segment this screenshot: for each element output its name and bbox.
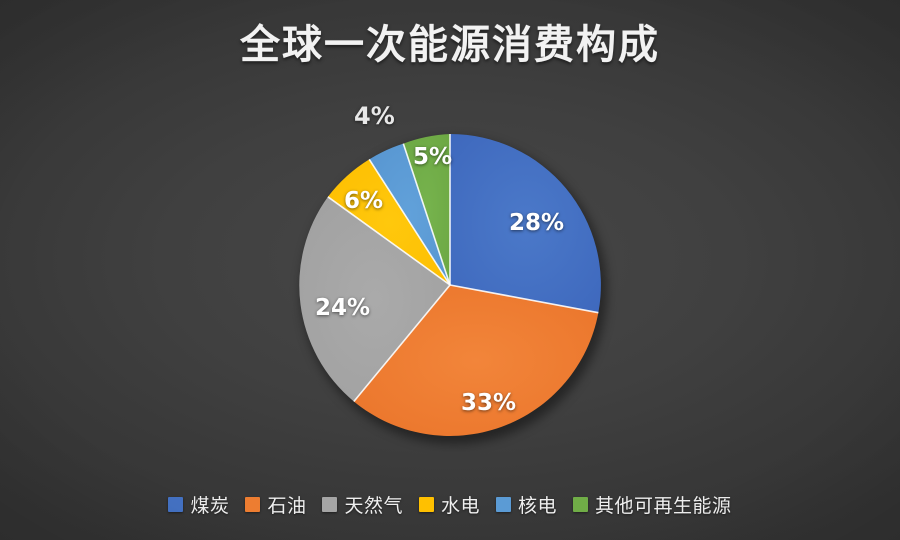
legend-item-gas[interactable]: 天然气 <box>322 491 403 518</box>
legend-swatch-icon <box>168 497 183 512</box>
legend-label: 煤炭 <box>190 491 229 518</box>
legend-item-coal[interactable]: 煤炭 <box>168 491 229 518</box>
legend-label: 天然气 <box>344 491 403 518</box>
pie-chart-slide: 全球一次能源消费构成 <box>0 0 900 540</box>
legend-label: 核电 <box>518 491 557 518</box>
pie-slice-coal[interactable] <box>450 134 601 313</box>
chart-legend: 煤炭 石油 天然气 水电 核电 其他可再生能源 <box>0 491 900 518</box>
legend-swatch-icon <box>245 497 260 512</box>
legend-swatch-icon <box>573 497 588 512</box>
legend-item-oil[interactable]: 石油 <box>245 491 306 518</box>
legend-item-hydro[interactable]: 水电 <box>419 491 480 518</box>
pie-chart: 28% 33% 24% 6% 4% 5% <box>297 132 603 438</box>
legend-label: 水电 <box>441 491 480 518</box>
pie-svg <box>297 132 603 438</box>
legend-swatch-icon <box>419 497 434 512</box>
pie-label-nuclear: 4% <box>354 102 395 130</box>
legend-swatch-icon <box>322 497 337 512</box>
legend-label: 其他可再生能源 <box>595 491 732 518</box>
chart-title: 全球一次能源消费构成 <box>0 12 900 70</box>
legend-item-renewable[interactable]: 其他可再生能源 <box>573 491 732 518</box>
legend-label: 石油 <box>267 491 306 518</box>
legend-item-nuclear[interactable]: 核电 <box>496 491 557 518</box>
legend-swatch-icon <box>496 497 511 512</box>
